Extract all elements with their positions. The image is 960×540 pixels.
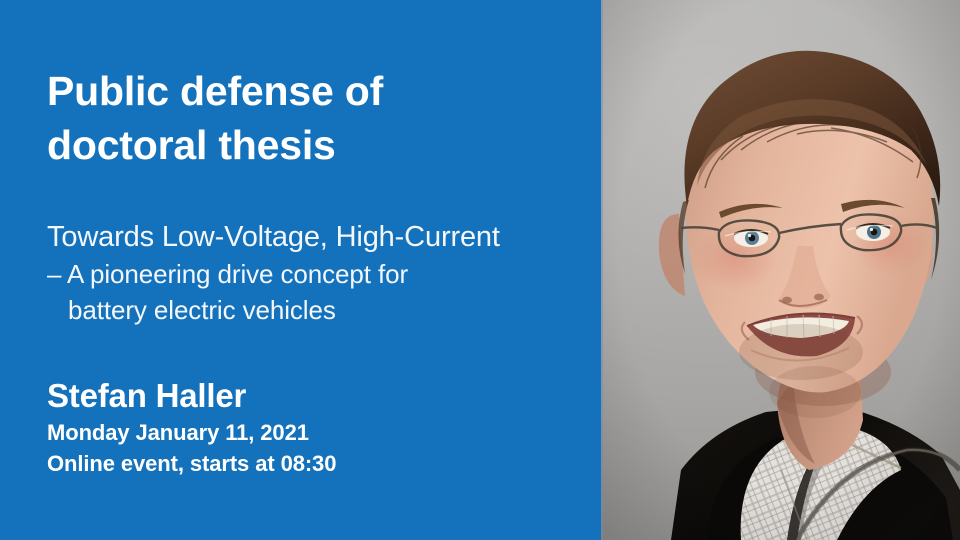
- event-date: Monday January 11, 2021: [47, 417, 592, 448]
- speaker-name: Stefan Haller: [47, 375, 592, 417]
- blue-text-panel: Public defense of doctoral thesis Toward…: [0, 0, 601, 540]
- speaker-details: Stefan Haller Monday January 11, 2021 On…: [47, 375, 592, 479]
- subtitle-line-2: – A pioneering drive concept for: [47, 256, 592, 292]
- title-line-1: Public defense of: [47, 64, 592, 118]
- title-line-2: doctoral thesis: [47, 118, 592, 172]
- panel-photo-divider: [601, 0, 603, 540]
- thesis-subtitle: Towards Low-Voltage, High-Current – A pi…: [47, 218, 592, 328]
- slide-title: Public defense of doctoral thesis: [47, 64, 592, 172]
- event-time: Online event, starts at 08:30: [47, 448, 592, 479]
- portrait-illustration: [601, 0, 960, 540]
- subtitle-line-3: battery electric vehicles: [47, 292, 592, 328]
- subtitle-line-1: Towards Low-Voltage, High-Current: [47, 218, 592, 256]
- speaker-portrait-photo: [601, 0, 960, 540]
- presentation-slide: Public defense of doctoral thesis Toward…: [0, 0, 960, 540]
